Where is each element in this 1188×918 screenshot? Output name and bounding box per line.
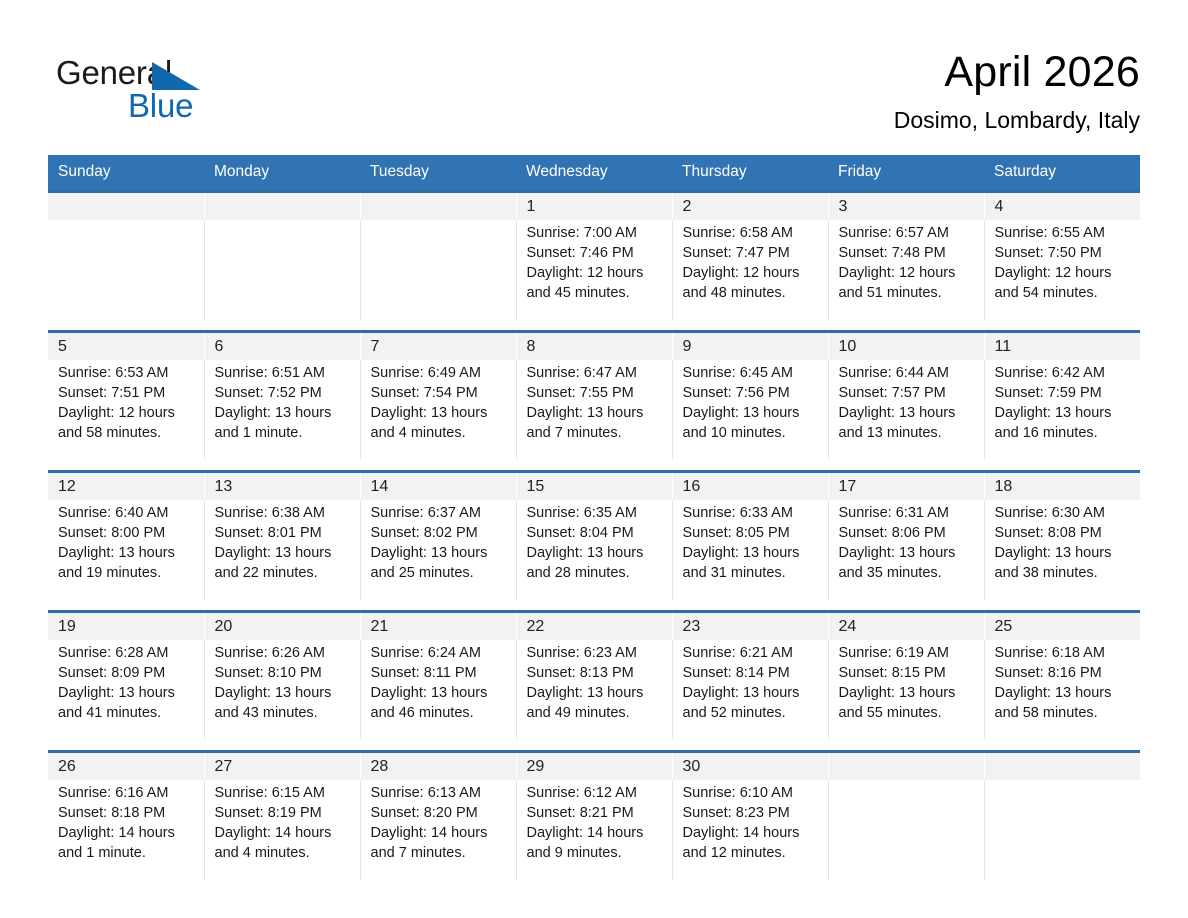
day-cell-11[interactable]: Sunrise: 6:42 AMSunset: 7:59 PMDaylight:… (984, 360, 1140, 460)
sunrise-line: Sunrise: 6:10 AM (683, 784, 820, 804)
daylight-line-2: and 25 minutes. (371, 564, 508, 584)
daylight-line-2: and 9 minutes. (527, 844, 664, 864)
daylight-line-1: Daylight: 14 hours (527, 824, 664, 844)
day-cell-empty (360, 220, 516, 320)
daylight-line-1: Daylight: 13 hours (215, 544, 352, 564)
day-cell-3[interactable]: Sunrise: 6:57 AMSunset: 7:48 PMDaylight:… (828, 220, 984, 320)
daylight-line-2: and 49 minutes. (527, 704, 664, 724)
day-number-empty (828, 752, 984, 781)
daylight-line-1: Daylight: 12 hours (683, 264, 820, 284)
day-cell-19[interactable]: Sunrise: 6:28 AMSunset: 8:09 PMDaylight:… (48, 640, 204, 740)
daylight-line-1: Daylight: 13 hours (371, 544, 508, 564)
generalblue-logo[interactable]: General Blue (56, 48, 256, 126)
sunset-line: Sunset: 8:06 PM (839, 524, 976, 544)
day-cell-empty (828, 780, 984, 880)
daylight-line-2: and 52 minutes. (683, 704, 820, 724)
day-cell-4[interactable]: Sunrise: 6:55 AMSunset: 7:50 PMDaylight:… (984, 220, 1140, 320)
day-cell-16[interactable]: Sunrise: 6:33 AMSunset: 8:05 PMDaylight:… (672, 500, 828, 600)
day-number-21[interactable]: 21 (360, 612, 516, 641)
day-cell-9[interactable]: Sunrise: 6:45 AMSunset: 7:56 PMDaylight:… (672, 360, 828, 460)
daylight-line-1: Daylight: 13 hours (683, 404, 820, 424)
sunrise-line: Sunrise: 6:24 AM (371, 644, 508, 664)
daylight-line-2: and 13 minutes. (839, 424, 976, 444)
day-cell-28[interactable]: Sunrise: 6:13 AMSunset: 8:20 PMDaylight:… (360, 780, 516, 880)
day-number-19[interactable]: 19 (48, 612, 204, 641)
sunrise-line: Sunrise: 6:30 AM (995, 504, 1133, 524)
sunset-line: Sunset: 8:23 PM (683, 804, 820, 824)
sunrise-line: Sunrise: 6:15 AM (215, 784, 352, 804)
day-cell-20[interactable]: Sunrise: 6:26 AMSunset: 8:10 PMDaylight:… (204, 640, 360, 740)
logo-text-blue: Blue (128, 89, 193, 122)
day-number-20[interactable]: 20 (204, 612, 360, 641)
week-detail-row: Sunrise: 6:28 AMSunset: 8:09 PMDaylight:… (48, 640, 1140, 740)
day-cell-23[interactable]: Sunrise: 6:21 AMSunset: 8:14 PMDaylight:… (672, 640, 828, 740)
sunset-line: Sunset: 8:10 PM (215, 664, 352, 684)
sunrise-line: Sunrise: 6:26 AM (215, 644, 352, 664)
page-header: General Blue April 2026 Dosimo, Lombardy… (0, 0, 1188, 133)
sunrise-line: Sunrise: 6:44 AM (839, 364, 976, 384)
daylight-line-2: and 43 minutes. (215, 704, 352, 724)
day-number-empty (984, 752, 1140, 781)
day-number-26[interactable]: 26 (48, 752, 204, 781)
daylight-line-2: and 10 minutes. (683, 424, 820, 444)
daylight-line-1: Daylight: 13 hours (995, 404, 1133, 424)
daylight-line-2: and 1 minute. (58, 844, 196, 864)
day-number-2[interactable]: 2 (672, 192, 828, 221)
day-cell-15[interactable]: Sunrise: 6:35 AMSunset: 8:04 PMDaylight:… (516, 500, 672, 600)
daylight-line-2: and 51 minutes. (839, 284, 976, 304)
daylight-line-2: and 7 minutes. (527, 424, 664, 444)
sunrise-line: Sunrise: 6:38 AM (215, 504, 352, 524)
sunrise-line: Sunrise: 6:12 AM (527, 784, 664, 804)
daylight-line-1: Daylight: 14 hours (683, 824, 820, 844)
day-cell-empty (48, 220, 204, 320)
sunset-line: Sunset: 8:01 PM (215, 524, 352, 544)
day-cell-25[interactable]: Sunrise: 6:18 AMSunset: 8:16 PMDaylight:… (984, 640, 1140, 740)
calendar-page: General Blue April 2026 Dosimo, Lombardy… (0, 0, 1188, 918)
sunset-line: Sunset: 7:56 PM (683, 384, 820, 404)
week-spacer (48, 460, 1140, 472)
day-number-16[interactable]: 16 (672, 472, 828, 501)
day-cell-29[interactable]: Sunrise: 6:12 AMSunset: 8:21 PMDaylight:… (516, 780, 672, 880)
day-cell-17[interactable]: Sunrise: 6:31 AMSunset: 8:06 PMDaylight:… (828, 500, 984, 600)
day-number-28[interactable]: 28 (360, 752, 516, 781)
daylight-line-1: Daylight: 12 hours (58, 404, 196, 424)
daylight-line-2: and 38 minutes. (995, 564, 1133, 584)
sunset-line: Sunset: 7:50 PM (995, 244, 1133, 264)
daylight-line-2: and 55 minutes. (839, 704, 976, 724)
day-number-22[interactable]: 22 (516, 612, 672, 641)
daylight-line-1: Daylight: 12 hours (995, 264, 1133, 284)
sunset-line: Sunset: 8:19 PM (215, 804, 352, 824)
daylight-line-1: Daylight: 13 hours (215, 404, 352, 424)
day-number-8[interactable]: 8 (516, 332, 672, 361)
daylight-line-2: and 58 minutes. (58, 424, 196, 444)
day-cell-2[interactable]: Sunrise: 6:58 AMSunset: 7:47 PMDaylight:… (672, 220, 828, 320)
sunset-line: Sunset: 7:55 PM (527, 384, 664, 404)
sunrise-line: Sunrise: 6:47 AM (527, 364, 664, 384)
daylight-line-2: and 31 minutes. (683, 564, 820, 584)
daylight-line-1: Daylight: 13 hours (371, 404, 508, 424)
sunset-line: Sunset: 8:08 PM (995, 524, 1133, 544)
day-cell-24[interactable]: Sunrise: 6:19 AMSunset: 8:15 PMDaylight:… (828, 640, 984, 740)
week-detail-row: Sunrise: 6:16 AMSunset: 8:18 PMDaylight:… (48, 780, 1140, 880)
day-number-18[interactable]: 18 (984, 472, 1140, 501)
daylight-line-2: and 12 minutes. (683, 844, 820, 864)
sunrise-line: Sunrise: 6:31 AM (839, 504, 976, 524)
week-detail-row: Sunrise: 6:53 AMSunset: 7:51 PMDaylight:… (48, 360, 1140, 460)
daylight-line-1: Daylight: 13 hours (527, 544, 664, 564)
day-number-1[interactable]: 1 (516, 192, 672, 221)
location-subtitle: Dosimo, Lombardy, Italy (894, 108, 1140, 133)
week-daynumber-row: 1234 (48, 192, 1140, 221)
day-number-25[interactable]: 25 (984, 612, 1140, 641)
daylight-line-2: and 48 minutes. (683, 284, 820, 304)
week-spacer-cell (48, 320, 1140, 332)
daylight-line-2: and 16 minutes. (995, 424, 1133, 444)
sunrise-line: Sunrise: 6:28 AM (58, 644, 196, 664)
daylight-line-2: and 19 minutes. (58, 564, 196, 584)
daylight-line-2: and 41 minutes. (58, 704, 196, 724)
weekday-header-tuesday: Tuesday (360, 155, 516, 192)
sunset-line: Sunset: 7:57 PM (839, 384, 976, 404)
calendar-head: SundayMondayTuesdayWednesdayThursdayFrid… (48, 155, 1140, 192)
sunrise-line: Sunrise: 6:45 AM (683, 364, 820, 384)
daylight-line-1: Daylight: 14 hours (215, 824, 352, 844)
week-detail-row: Sunrise: 7:00 AMSunset: 7:46 PMDaylight:… (48, 220, 1140, 320)
sunrise-line: Sunrise: 6:51 AM (215, 364, 352, 384)
sunrise-line: Sunrise: 6:58 AM (683, 224, 820, 244)
day-number-29[interactable]: 29 (516, 752, 672, 781)
weekday-header-thursday: Thursday (672, 155, 828, 192)
weekday-header-row: SundayMondayTuesdayWednesdayThursdayFrid… (48, 155, 1140, 192)
sunrise-line: Sunrise: 6:57 AM (839, 224, 976, 244)
sunset-line: Sunset: 8:16 PM (995, 664, 1133, 684)
sunrise-line: Sunrise: 6:42 AM (995, 364, 1133, 384)
sunset-line: Sunset: 7:51 PM (58, 384, 196, 404)
sunset-line: Sunset: 8:05 PM (683, 524, 820, 544)
daylight-line-1: Daylight: 13 hours (839, 544, 976, 564)
week-spacer (48, 600, 1140, 612)
week-spacer-cell (48, 740, 1140, 752)
day-cell-13[interactable]: Sunrise: 6:38 AMSunset: 8:01 PMDaylight:… (204, 500, 360, 600)
day-number-4[interactable]: 4 (984, 192, 1140, 221)
page-title: April 2026 (894, 50, 1140, 95)
daylight-line-2: and 4 minutes. (215, 844, 352, 864)
day-cell-27[interactable]: Sunrise: 6:15 AMSunset: 8:19 PMDaylight:… (204, 780, 360, 880)
sunrise-line: Sunrise: 6:53 AM (58, 364, 196, 384)
daylight-line-1: Daylight: 13 hours (215, 684, 352, 704)
week-daynumber-row: 567891011 (48, 332, 1140, 361)
day-number-14[interactable]: 14 (360, 472, 516, 501)
daylight-line-2: and 4 minutes. (371, 424, 508, 444)
sunrise-line: Sunrise: 6:18 AM (995, 644, 1133, 664)
week-daynumber-row: 12131415161718 (48, 472, 1140, 501)
week-spacer (48, 740, 1140, 752)
day-cell-26[interactable]: Sunrise: 6:16 AMSunset: 8:18 PMDaylight:… (48, 780, 204, 880)
day-cell-14[interactable]: Sunrise: 6:37 AMSunset: 8:02 PMDaylight:… (360, 500, 516, 600)
day-number-6[interactable]: 6 (204, 332, 360, 361)
day-cell-5[interactable]: Sunrise: 6:53 AMSunset: 7:51 PMDaylight:… (48, 360, 204, 460)
sunrise-line: Sunrise: 6:35 AM (527, 504, 664, 524)
sunrise-line: Sunrise: 6:16 AM (58, 784, 196, 804)
daylight-line-2: and 45 minutes. (527, 284, 664, 304)
sunset-line: Sunset: 8:02 PM (371, 524, 508, 544)
day-number-23[interactable]: 23 (672, 612, 828, 641)
weekday-header-friday: Friday (828, 155, 984, 192)
week-daynumber-row: 2627282930 (48, 752, 1140, 781)
day-number-12[interactable]: 12 (48, 472, 204, 501)
day-number-17[interactable]: 17 (828, 472, 984, 501)
daylight-line-1: Daylight: 12 hours (527, 264, 664, 284)
weekday-header-saturday: Saturday (984, 155, 1140, 192)
sunset-line: Sunset: 8:14 PM (683, 664, 820, 684)
daylight-line-1: Daylight: 13 hours (527, 404, 664, 424)
weekday-header-sunday: Sunday (48, 155, 204, 192)
sunset-line: Sunset: 8:13 PM (527, 664, 664, 684)
daylight-line-1: Daylight: 13 hours (839, 684, 976, 704)
daylight-line-2: and 22 minutes. (215, 564, 352, 584)
sunset-line: Sunset: 8:09 PM (58, 664, 196, 684)
daylight-line-2: and 46 minutes. (371, 704, 508, 724)
daylight-line-2: and 7 minutes. (371, 844, 508, 864)
daylight-line-1: Daylight: 13 hours (527, 684, 664, 704)
daylight-line-1: Daylight: 13 hours (995, 684, 1133, 704)
daylight-line-1: Daylight: 14 hours (371, 824, 508, 844)
sunset-line: Sunset: 8:00 PM (58, 524, 196, 544)
sunrise-line: Sunrise: 6:37 AM (371, 504, 508, 524)
sunset-line: Sunset: 7:52 PM (215, 384, 352, 404)
daylight-line-1: Daylight: 13 hours (683, 684, 820, 704)
daylight-line-1: Daylight: 13 hours (58, 684, 196, 704)
day-cell-18[interactable]: Sunrise: 6:30 AMSunset: 8:08 PMDaylight:… (984, 500, 1140, 600)
sunrise-line: Sunrise: 6:21 AM (683, 644, 820, 664)
daylight-line-1: Daylight: 12 hours (839, 264, 976, 284)
daylight-line-1: Daylight: 14 hours (58, 824, 196, 844)
week-spacer (48, 320, 1140, 332)
daylight-line-1: Daylight: 13 hours (995, 544, 1133, 564)
daylight-line-1: Daylight: 13 hours (371, 684, 508, 704)
calendar-body: 1234Sunrise: 7:00 AMSunset: 7:46 PMDayli… (48, 192, 1140, 881)
sunset-line: Sunset: 8:20 PM (371, 804, 508, 824)
sunrise-line: Sunrise: 6:23 AM (527, 644, 664, 664)
sunset-line: Sunset: 8:11 PM (371, 664, 508, 684)
logo-triangle-icon (152, 62, 200, 90)
week-daynumber-row: 19202122232425 (48, 612, 1140, 641)
daylight-line-2: and 1 minute. (215, 424, 352, 444)
weekday-header-wednesday: Wednesday (516, 155, 672, 192)
week-spacer-cell (48, 600, 1140, 612)
sunrise-line: Sunrise: 6:40 AM (58, 504, 196, 524)
day-cell-1[interactable]: Sunrise: 7:00 AMSunset: 7:46 PMDaylight:… (516, 220, 672, 320)
day-number-30[interactable]: 30 (672, 752, 828, 781)
day-number-11[interactable]: 11 (984, 332, 1140, 361)
sunset-line: Sunset: 8:15 PM (839, 664, 976, 684)
sunset-line: Sunset: 7:46 PM (527, 244, 664, 264)
day-number-empty (360, 192, 516, 221)
sunrise-line: Sunrise: 6:49 AM (371, 364, 508, 384)
day-number-15[interactable]: 15 (516, 472, 672, 501)
week-detail-row: Sunrise: 6:40 AMSunset: 8:00 PMDaylight:… (48, 500, 1140, 600)
sunrise-line: Sunrise: 6:33 AM (683, 504, 820, 524)
sunset-line: Sunset: 8:21 PM (527, 804, 664, 824)
day-number-3[interactable]: 3 (828, 192, 984, 221)
sunrise-line: Sunrise: 6:55 AM (995, 224, 1133, 244)
day-number-empty (204, 192, 360, 221)
sunset-line: Sunset: 7:59 PM (995, 384, 1133, 404)
daylight-line-1: Daylight: 13 hours (839, 404, 976, 424)
daylight-line-1: Daylight: 13 hours (58, 544, 196, 564)
daylight-line-2: and 58 minutes. (995, 704, 1133, 724)
daylight-line-2: and 35 minutes. (839, 564, 976, 584)
daylight-line-1: Daylight: 13 hours (683, 544, 820, 564)
sunset-line: Sunset: 7:47 PM (683, 244, 820, 264)
day-number-13[interactable]: 13 (204, 472, 360, 501)
week-spacer-cell (48, 460, 1140, 472)
day-cell-21[interactable]: Sunrise: 6:24 AMSunset: 8:11 PMDaylight:… (360, 640, 516, 740)
sunrise-line: Sunrise: 7:00 AM (527, 224, 664, 244)
sunset-line: Sunset: 8:04 PM (527, 524, 664, 544)
day-number-empty (48, 192, 204, 221)
title-block: April 2026 Dosimo, Lombardy, Italy (894, 48, 1140, 133)
day-cell-6[interactable]: Sunrise: 6:51 AMSunset: 7:52 PMDaylight:… (204, 360, 360, 460)
daylight-line-2: and 28 minutes. (527, 564, 664, 584)
day-number-24[interactable]: 24 (828, 612, 984, 641)
day-cell-empty (204, 220, 360, 320)
day-number-27[interactable]: 27 (204, 752, 360, 781)
calendar-table: SundayMondayTuesdayWednesdayThursdayFrid… (48, 155, 1140, 880)
day-number-7[interactable]: 7 (360, 332, 516, 361)
daylight-line-2: and 54 minutes. (995, 284, 1133, 304)
day-cell-30[interactable]: Sunrise: 6:10 AMSunset: 8:23 PMDaylight:… (672, 780, 828, 880)
sunset-line: Sunset: 7:48 PM (839, 244, 976, 264)
sunrise-line: Sunrise: 6:13 AM (371, 784, 508, 804)
day-number-5[interactable]: 5 (48, 332, 204, 361)
day-number-9[interactable]: 9 (672, 332, 828, 361)
day-cell-7[interactable]: Sunrise: 6:49 AMSunset: 7:54 PMDaylight:… (360, 360, 516, 460)
day-cell-8[interactable]: Sunrise: 6:47 AMSunset: 7:55 PMDaylight:… (516, 360, 672, 460)
day-cell-22[interactable]: Sunrise: 6:23 AMSunset: 8:13 PMDaylight:… (516, 640, 672, 740)
day-cell-12[interactable]: Sunrise: 6:40 AMSunset: 8:00 PMDaylight:… (48, 500, 204, 600)
sunset-line: Sunset: 7:54 PM (371, 384, 508, 404)
day-cell-10[interactable]: Sunrise: 6:44 AMSunset: 7:57 PMDaylight:… (828, 360, 984, 460)
day-number-10[interactable]: 10 (828, 332, 984, 361)
weekday-header-monday: Monday (204, 155, 360, 192)
day-cell-empty (984, 780, 1140, 880)
sunset-line: Sunset: 8:18 PM (58, 804, 196, 824)
sunrise-line: Sunrise: 6:19 AM (839, 644, 976, 664)
